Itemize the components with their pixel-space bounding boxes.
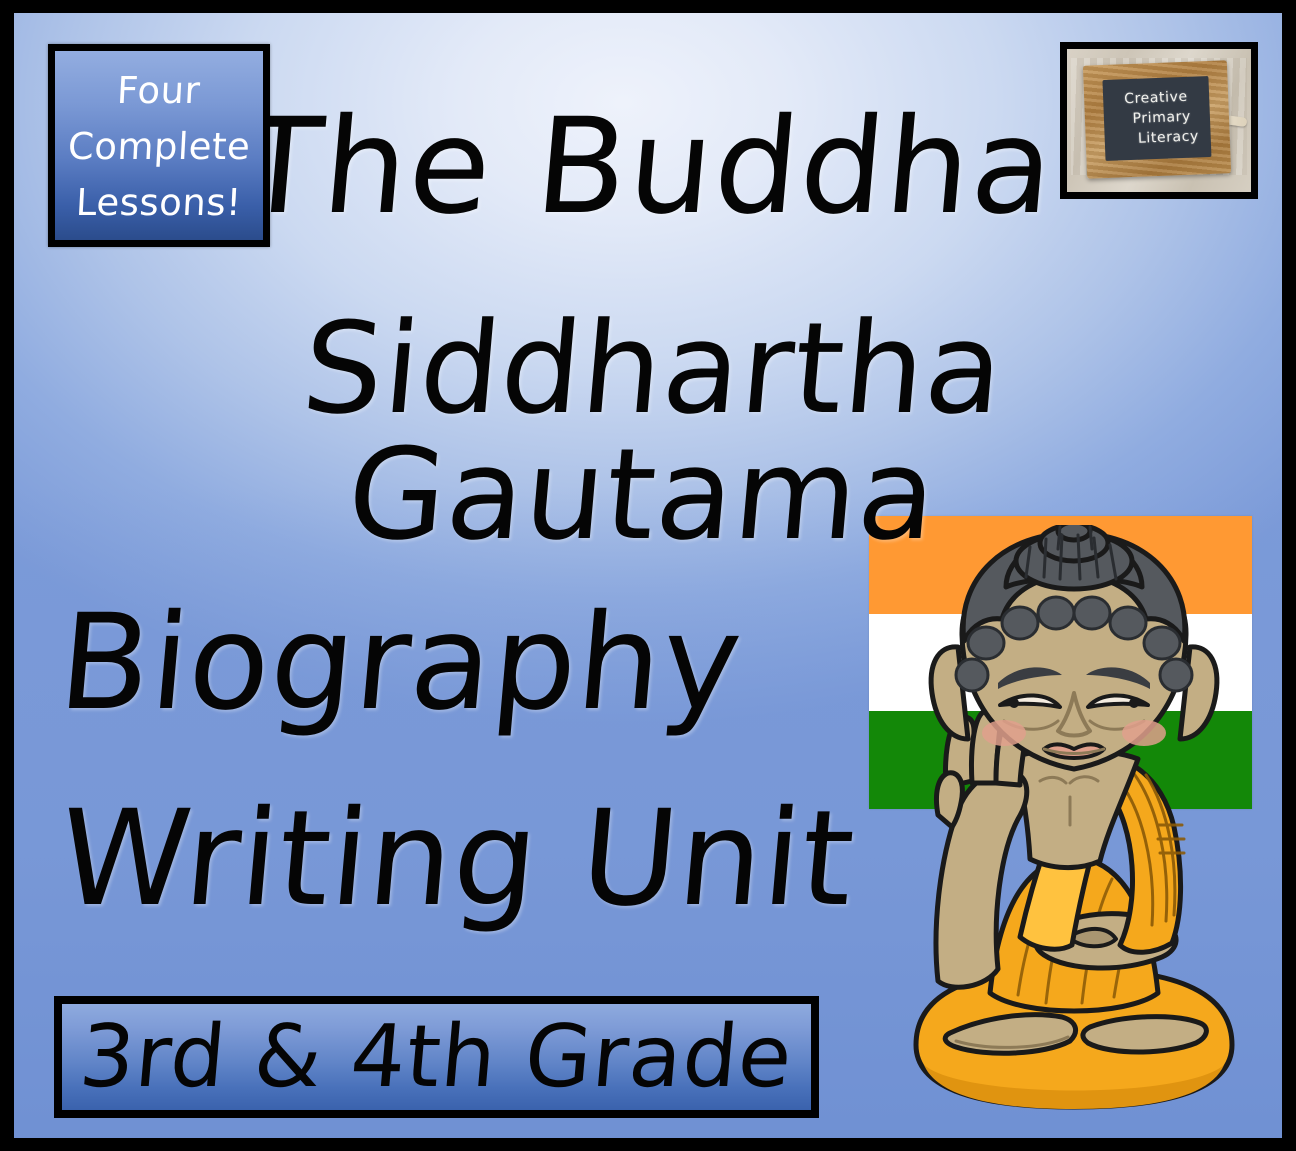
page-subtitle: Siddhartha Gautama (14, 306, 1282, 558)
lessons-badge-line-3: Lessons! (75, 175, 243, 231)
unit-title-line-2: Writing Unit (51, 761, 878, 957)
logo-line-2: Primary (1133, 107, 1192, 129)
chalkboard-wooden-frame: Creative Primary Literacy (1083, 61, 1231, 179)
grade-level-label: 3rd & 4th Grade (76, 1012, 796, 1102)
chalkboard-slate: Creative Primary Literacy (1102, 76, 1211, 161)
lessons-badge-line-2: Complete (66, 119, 251, 175)
buddha-meditating-illustration (894, 525, 1254, 1130)
poster-page: Four Complete Lessons! Creative Primary … (0, 0, 1296, 1151)
grade-level-banner: 3rd & 4th Grade (54, 996, 819, 1118)
unit-title-block: Biography Writing Unit (60, 565, 870, 957)
creative-primary-literacy-logo: Creative Primary Literacy (1060, 42, 1258, 199)
lessons-badge-line-1: Four (116, 63, 202, 119)
poster-card: Four Complete Lessons! Creative Primary … (14, 13, 1282, 1138)
logo-line-3: Literacy (1138, 127, 1200, 149)
unit-title-line-1: Biography (51, 565, 878, 761)
four-complete-lessons-badge: Four Complete Lessons! (48, 44, 270, 247)
